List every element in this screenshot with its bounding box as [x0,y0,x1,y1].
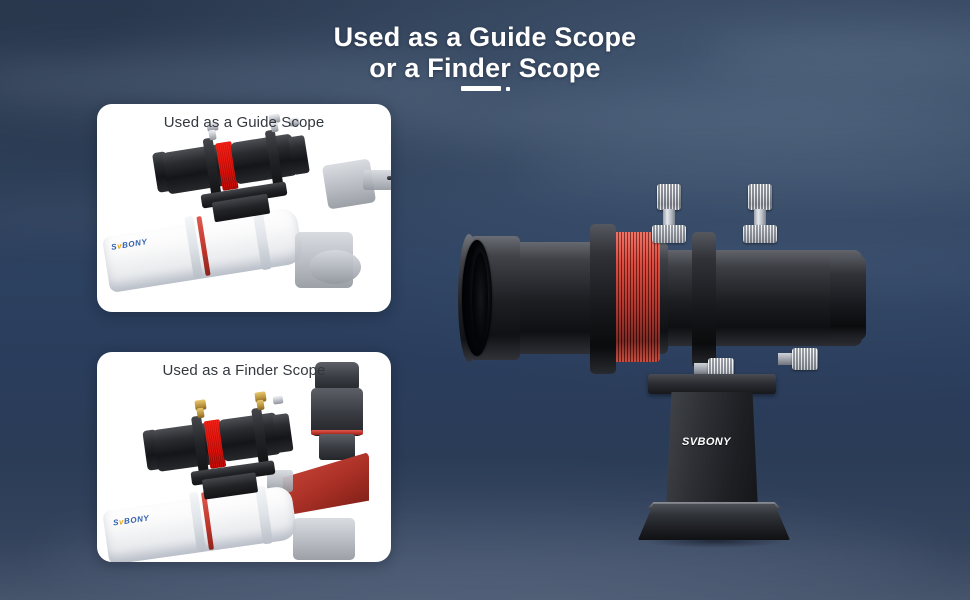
mount-saddle-icon [293,518,355,560]
page-title-line-1: Used as a Guide Scope [334,22,637,52]
card-finder-scope-illustration: SvBONY [97,352,391,562]
side-thumbscrew-knob-icon [792,348,818,370]
card-guide-scope-illustration: SvBONY [97,104,391,312]
focuser-drawtube-icon [363,170,391,190]
divider-bar-icon [461,86,501,91]
page-title: Used as a Guide Scope or a Finder Scope [0,22,970,84]
eyepiece-body-icon [311,388,363,436]
thumbscrew-icon [196,408,204,419]
thumbscrew-icon [256,400,264,411]
thumbscrew-icon [272,395,283,404]
product-clamp-ring-front [590,224,616,374]
star-diagonal-icon [283,452,369,516]
eyepiece-nose-icon [319,434,355,460]
promo-banner: Used as a Guide Scope or a Finder Scope … [0,0,970,600]
product-clamp-ring-rear [692,232,716,368]
thumbscrew-locknut-icon [652,225,686,243]
camera-ring-icon [309,250,361,284]
card-guide-scope: Used as a Guide Scope SvBONY [97,104,391,312]
thumbscrew-knob-icon [657,184,681,210]
focuser-shaft-icon [387,176,391,180]
product-bracket-plate [648,374,776,394]
product-focus-ring [612,232,660,362]
card-finder-scope: Used as a Finder Scope SvBONY [97,352,391,562]
thumbscrew-icon [208,130,216,141]
product-objective-aperture [472,252,488,344]
card-guide-scope-title: Used as a Guide Scope [97,114,391,131]
title-divider [0,86,970,91]
product-rear-cap [830,256,866,340]
divider-dot-icon [506,87,510,91]
thumbscrew-knob-icon [748,184,772,210]
thumbscrew-locknut-icon [743,225,777,243]
product-bracket-stem [666,392,758,510]
product-hero-image: SVBONY [430,170,950,570]
page-title-line-2: or a Finder Scope [0,53,970,84]
product-foot-base [638,504,790,540]
svbony-logo-hero: SVBONY [682,436,731,448]
card-finder-scope-title: Used as a Finder Scope [97,362,391,379]
